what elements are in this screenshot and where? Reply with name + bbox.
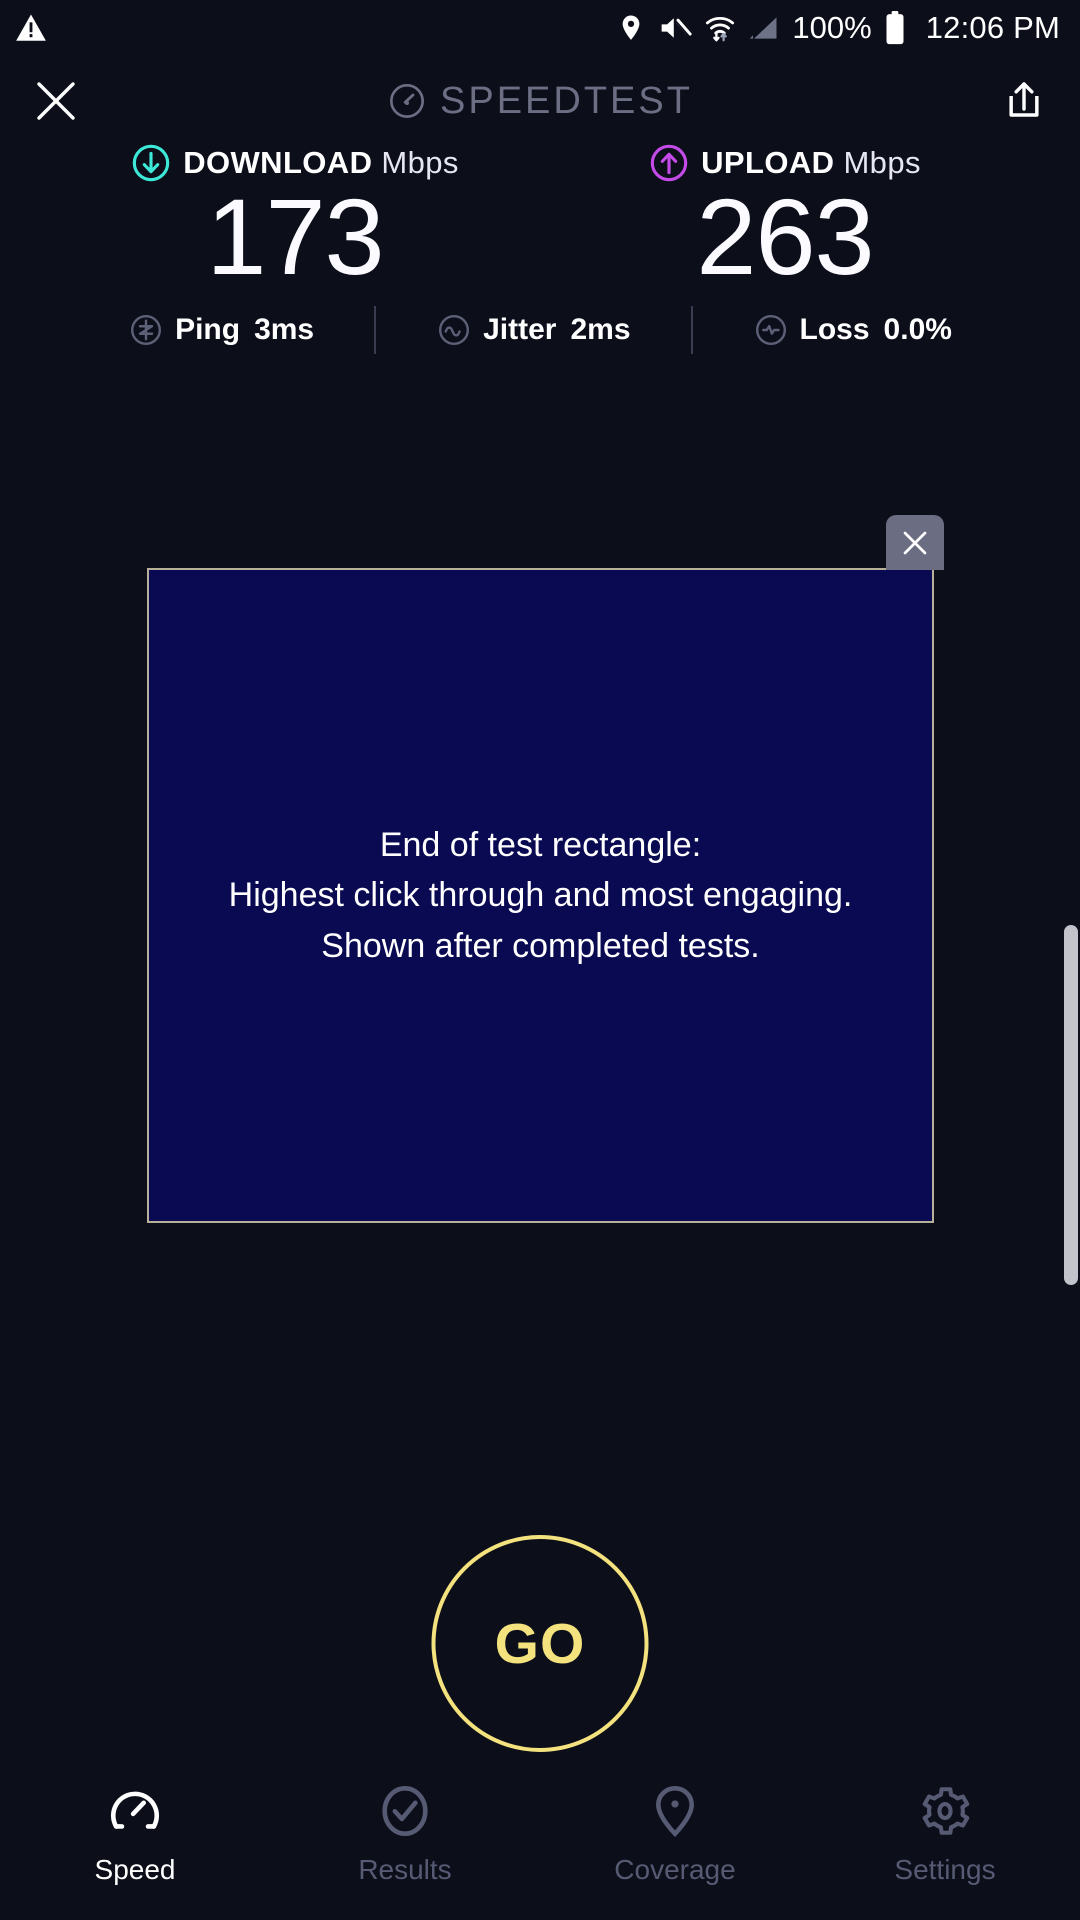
loss-label: Loss [800, 313, 870, 347]
ad-text: End of test rectangle: Highest click thr… [229, 820, 853, 971]
go-button-label: GO [495, 1611, 586, 1677]
speed-metrics-row: DOWNLOAD Mbps 173 UPLOAD Mbps 263 [0, 140, 1080, 292]
volume-muted-icon [658, 13, 692, 43]
network-quality-row: Ping 3ms Jitter 2ms [0, 302, 1080, 358]
divider [374, 306, 376, 354]
download-value: 173 [80, 182, 510, 292]
close-app-button[interactable] [24, 69, 88, 133]
ping-icon [128, 312, 164, 348]
nav-item-settings[interactable]: Settings [810, 1782, 1080, 1886]
divider [691, 306, 693, 354]
jitter-icon [436, 312, 472, 348]
ad-line-2: Highest click through and most engaging. [229, 870, 853, 920]
ping-value: 3ms [254, 313, 314, 347]
nav-label-results: Results [358, 1854, 451, 1886]
download-metric: DOWNLOAD Mbps 173 [80, 140, 510, 292]
jitter-value: 2ms [570, 313, 630, 347]
nav-item-coverage[interactable]: Coverage [540, 1782, 810, 1886]
share-button[interactable] [992, 69, 1056, 133]
loss-icon [753, 312, 789, 348]
location-pin-icon [616, 13, 646, 43]
loss-stat: Loss 0.0% [745, 312, 960, 348]
nav-label-coverage: Coverage [614, 1854, 735, 1886]
loss-value: 0.0% [884, 313, 952, 347]
nav-item-results[interactable]: Results [270, 1782, 540, 1886]
upload-metric: UPLOAD Mbps 263 [570, 140, 1000, 292]
jitter-stat: Jitter 2ms [428, 312, 638, 348]
speedometer-icon [387, 81, 427, 121]
speedometer-icon [106, 1782, 164, 1840]
wifi-transfer-icon [704, 12, 736, 44]
nav-item-speed[interactable]: Speed [0, 1782, 270, 1886]
upload-value: 263 [570, 182, 1000, 292]
status-bar-clock: 12:06 PM [926, 10, 1060, 46]
gear-icon [916, 1782, 974, 1840]
app-header: SPEEDTEST [0, 56, 1080, 146]
battery-percent: 100% [792, 10, 871, 46]
ping-label: Ping [175, 313, 240, 347]
ad-banner[interactable]: End of test rectangle: Highest click thr… [147, 568, 934, 1223]
brand-title: SPEEDTEST [0, 56, 1080, 146]
speedtest-app-screen: 100% 12:06 PM S [0, 0, 1080, 1920]
ad-line-1: End of test rectangle: [229, 820, 853, 870]
brand-text: SPEEDTEST [440, 80, 693, 123]
location-pin-icon [646, 1782, 704, 1840]
ad-line-3: Shown after completed tests. [229, 921, 853, 971]
warning-triangle-icon [14, 11, 48, 45]
advertisement: End of test rectangle: Highest click thr… [147, 568, 934, 1223]
nav-label-speed: Speed [95, 1854, 176, 1886]
jitter-label: Jitter [483, 313, 556, 347]
ad-close-button[interactable] [886, 515, 944, 570]
status-bar-left [14, 11, 48, 45]
cell-signal-icon [748, 13, 780, 43]
arrow-down-circle-icon [131, 143, 171, 183]
battery-full-icon [884, 11, 906, 45]
nav-label-settings: Settings [894, 1854, 995, 1886]
status-bar-right: 100% 12:06 PM [616, 10, 1060, 46]
check-circle-icon [376, 1782, 434, 1840]
ping-stat: Ping 3ms [120, 312, 322, 348]
bottom-navigation: Speed Results Coverage [0, 1770, 1080, 1920]
status-bar: 100% 12:06 PM [0, 0, 1080, 56]
results-panel: DOWNLOAD Mbps 173 UPLOAD Mbps 263 [0, 140, 1080, 358]
page-scrollbar[interactable] [1064, 925, 1078, 1285]
go-button[interactable]: GO [432, 1535, 649, 1752]
arrow-up-circle-icon [649, 143, 689, 183]
